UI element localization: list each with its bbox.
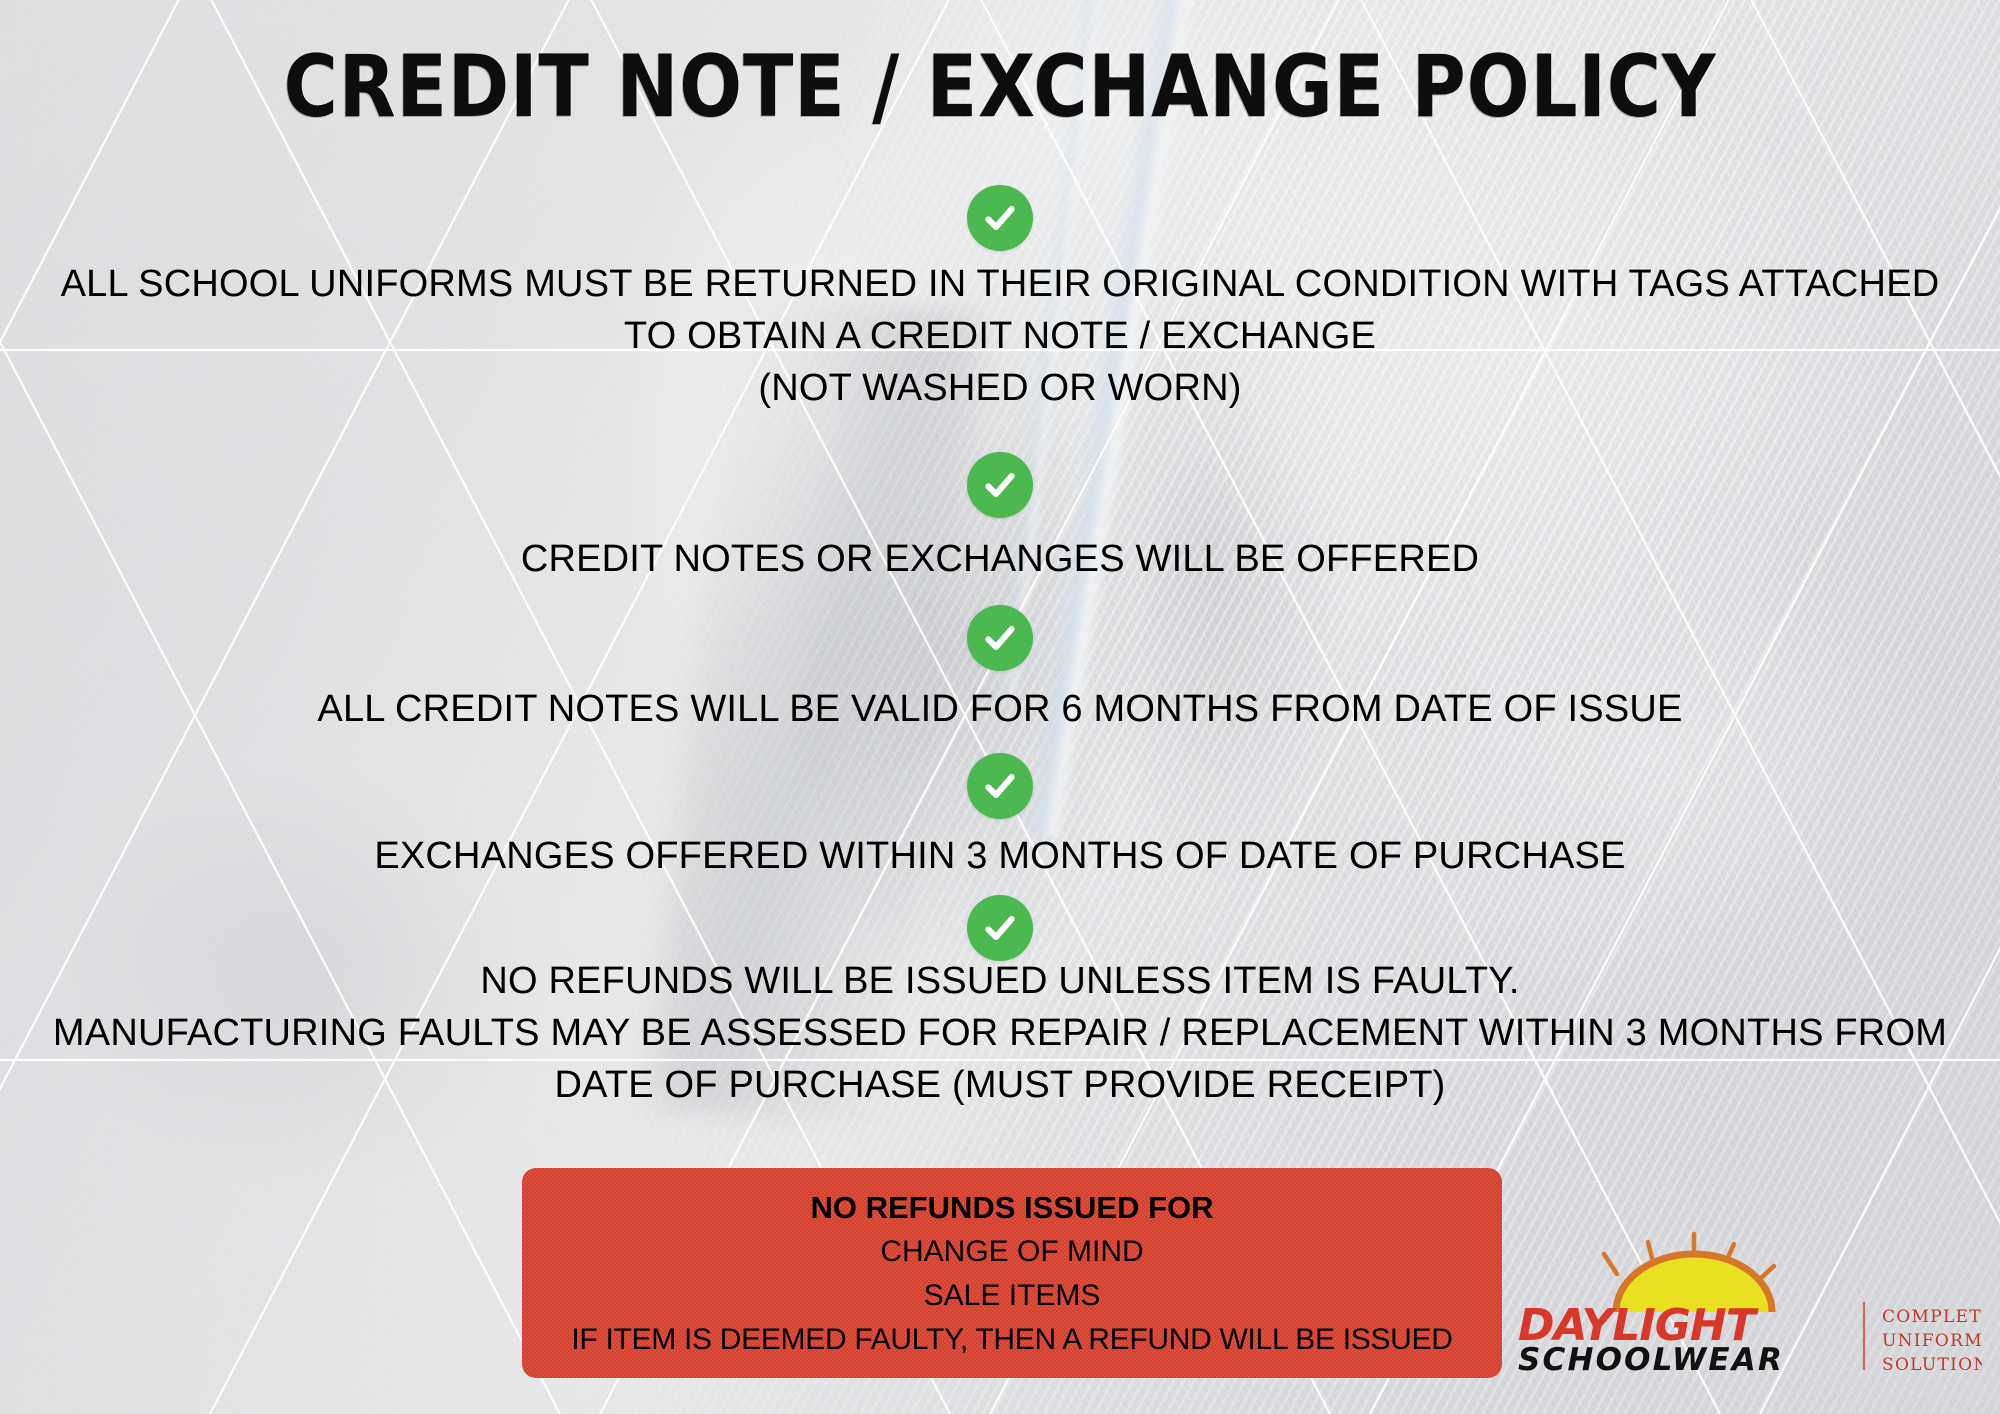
policy-item-text-2: CREDIT NOTES OR EXCHANGES WILL BE OFFERE…	[0, 533, 2000, 585]
alert-box-reason-1: CHANGE OF MIND	[522, 1230, 1502, 1274]
logo-tagline-line-2: UNIFORM	[1882, 1331, 1982, 1351]
alert-box-footnote: IF ITEM IS DEEMED FAULTY, THEN A REFUND …	[522, 1318, 1502, 1362]
green-check-icon-4	[967, 753, 1033, 819]
daylight-schoolwear-logo: DAYLIGHT SCHOOLWEAR COMPLETE UNIFORM SOL…	[1512, 1222, 1982, 1372]
logo-brand-bottom: SCHOOLWEAR	[1518, 1342, 1784, 1372]
no-refunds-alert-box: NO REFUNDS ISSUED FOR CHANGE OF MIND SAL…	[522, 1168, 1502, 1378]
policy-item-text-3: ALL CREDIT NOTES WILL BE VALID FOR 6 MON…	[0, 683, 2000, 735]
alert-box-heading: NO REFUNDS ISSUED FOR	[522, 1186, 1502, 1230]
green-check-icon-2	[967, 452, 1033, 518]
green-check-icon-1	[967, 185, 1033, 251]
logo-tagline-line-1: COMPLETE	[1882, 1307, 1982, 1327]
alert-box-reason-2: SALE ITEMS	[522, 1274, 1502, 1318]
logo-tagline-line-3: SOLUTIONS	[1882, 1355, 1982, 1372]
policy-poster: CREDIT NOTE / EXCHANGE POLICY ALL SCHOOL…	[0, 0, 2000, 1414]
green-check-icon-5	[967, 895, 1033, 961]
policy-item-text-1: ALL SCHOOL UNIFORMS MUST BE RETURNED IN …	[0, 258, 2000, 414]
policy-item-text-5: NO REFUNDS WILL BE ISSUED UNLESS ITEM IS…	[0, 955, 2000, 1111]
page-title: CREDIT NOTE / EXCHANGE POLICY	[140, 44, 1860, 130]
policy-item-text-4: EXCHANGES OFFERED WITHIN 3 MONTHS OF DAT…	[0, 830, 2000, 882]
green-check-icon-3	[967, 605, 1033, 671]
